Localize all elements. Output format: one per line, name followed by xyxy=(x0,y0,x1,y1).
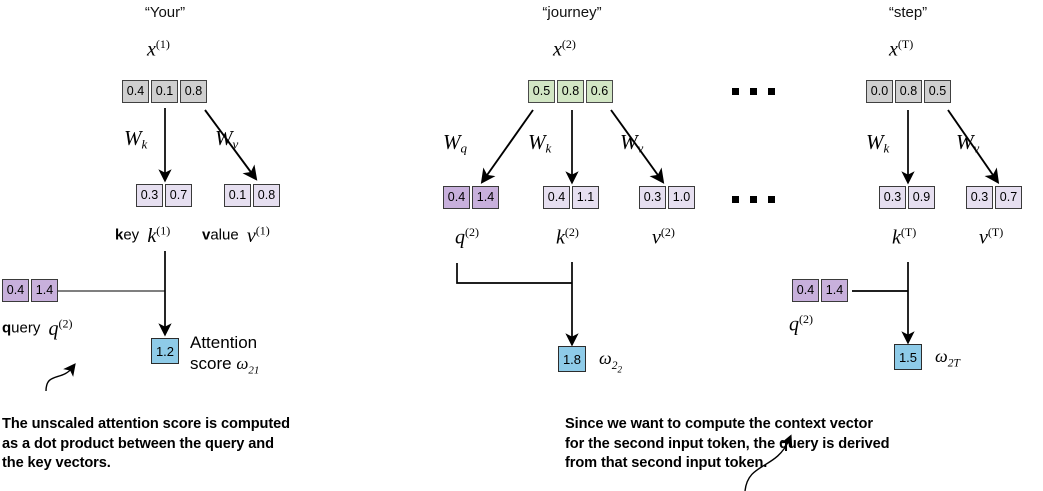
value-vector-2: 0.31.0 xyxy=(639,186,695,209)
vector-cell: 0.4 xyxy=(792,279,819,302)
vector-cell: 0.4 xyxy=(443,186,470,209)
vector-cell: 0.4 xyxy=(543,186,570,209)
input-symbol-2: x(2) xyxy=(553,38,576,60)
value-label-1: value v(1) xyxy=(202,222,266,244)
vector-cell: 1.4 xyxy=(472,186,499,209)
vector-cell: 0.8 xyxy=(557,80,584,103)
vector-cell: 0.5 xyxy=(528,80,555,103)
vector-cell: 1.5 xyxy=(894,344,922,370)
ellipsis-bottom xyxy=(732,196,775,203)
key-vector-2: 0.41.1 xyxy=(543,186,599,209)
input-symbol-1: x(1) xyxy=(147,38,170,60)
vector-cell: 1.4 xyxy=(821,279,848,302)
vector-cell: 1.2 xyxy=(151,338,179,364)
vector-cell: 0.7 xyxy=(165,184,192,207)
query-label-1: query q(2) xyxy=(2,315,69,337)
token-label-3: “step” xyxy=(853,4,963,21)
vector-cell: 0.7 xyxy=(995,186,1022,209)
weight-label-wv-3: Wv xyxy=(956,132,979,155)
query-label-2: q(2) xyxy=(455,226,479,248)
key-vector-1: 0.30.7 xyxy=(136,184,192,207)
vector-cell: 0.0 xyxy=(866,80,893,103)
attention-score-text-1: Attention score ω21 xyxy=(190,332,259,381)
vector-cell: 0.8 xyxy=(180,80,207,103)
token-label-1: “Your” xyxy=(110,4,220,21)
attention-score-box-3: 1.5 xyxy=(894,344,922,370)
omega-label-2: ω22 xyxy=(599,348,622,374)
value-label-3: v(T) xyxy=(979,226,1003,248)
query-label-3: q(2) xyxy=(789,313,813,335)
key-label-3: k(T) xyxy=(892,226,916,248)
vector-cell: 0.3 xyxy=(136,184,163,207)
weight-label-wk-2: Wk xyxy=(528,132,551,155)
vector-cell: 0.3 xyxy=(879,186,906,209)
vector-cell: 0.5 xyxy=(924,80,951,103)
vector-cell: 0.4 xyxy=(2,279,29,302)
vector-cell: 1.0 xyxy=(668,186,695,209)
query-vector-2: 0.41.4 xyxy=(443,186,499,209)
weight-label-wk-1: Wk xyxy=(124,128,147,151)
value-vector-1: 0.10.8 xyxy=(224,184,280,207)
key-label-1: key k(1) xyxy=(115,222,166,244)
key-label-2: k(2) xyxy=(556,226,579,248)
value-label-2: v(2) xyxy=(652,226,675,248)
vector-cell: 1.4 xyxy=(31,279,58,302)
attention-score-box-2: 1.8 xyxy=(558,346,586,372)
vector-cell: 0.3 xyxy=(966,186,993,209)
weight-label-wq-2: Wq xyxy=(443,132,467,155)
token-label-2: “journey” xyxy=(517,4,627,21)
input-vector-2: 0.50.80.6 xyxy=(528,80,613,103)
vector-cell: 0.1 xyxy=(224,184,251,207)
input-vector-3: 0.00.80.5 xyxy=(866,80,951,103)
vector-cell: 0.8 xyxy=(253,184,280,207)
query-vector-3: 0.41.4 xyxy=(792,279,848,302)
key-vector-3: 0.30.9 xyxy=(879,186,935,209)
caption-left: The unscaled attention score is computed… xyxy=(2,415,402,474)
query-vector-1: 0.41.4 xyxy=(2,279,58,302)
input-symbol-3: x(T) xyxy=(889,38,913,60)
vector-cell: 1.1 xyxy=(572,186,599,209)
ellipsis-top xyxy=(732,88,775,95)
weight-label-wv-1: Wv xyxy=(215,128,238,151)
vector-cell: 1.8 xyxy=(558,346,586,372)
vector-cell: 0.8 xyxy=(895,80,922,103)
omega-label-3: ω2T xyxy=(935,346,960,370)
vector-cell: 0.1 xyxy=(151,80,178,103)
vector-cell: 0.9 xyxy=(908,186,935,209)
weight-label-wk-3: Wk xyxy=(866,132,889,155)
vector-cell: 0.3 xyxy=(639,186,666,209)
caption-right: Since we want to compute the context vec… xyxy=(565,415,1043,474)
diagram-canvas: “Your” x(1) 0.40.10.8 Wk Wv 0.30.7 0.10.… xyxy=(0,0,1043,491)
weight-label-wv-2: Wv xyxy=(620,132,643,155)
value-vector-3: 0.30.7 xyxy=(966,186,1022,209)
input-vector-1: 0.40.10.8 xyxy=(122,80,207,103)
vector-cell: 0.4 xyxy=(122,80,149,103)
vector-cell: 0.6 xyxy=(586,80,613,103)
attention-score-box-1: 1.2 xyxy=(151,338,179,364)
